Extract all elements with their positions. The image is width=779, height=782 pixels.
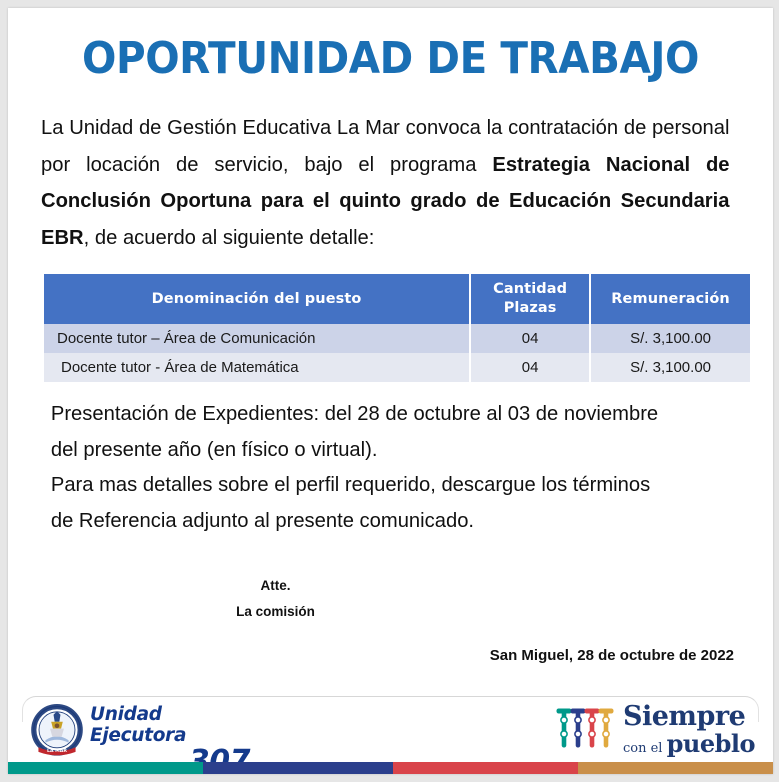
table-row: Docente tutor – Área de Comunicación 04 …: [44, 324, 750, 353]
place-date: San Miguel, 28 de octubre de 2022: [41, 647, 740, 664]
positions-table-wrapper: Denominación del puesto Cantidad Plazas …: [44, 274, 750, 382]
column-header-quantity-line1: Cantidad: [471, 280, 589, 300]
signature-signer: La comisión: [41, 599, 510, 625]
notes-block: Presentación de Expedientes: del 28 de o…: [41, 396, 730, 539]
cell-position-name: Docente tutor - Área de Matemática: [44, 353, 471, 382]
cell-quantity: 04: [471, 353, 591, 382]
slogan-text: Siempre con el pueblo: [623, 703, 755, 756]
column-header-quantity: Cantidad Plazas: [471, 274, 591, 324]
footer-content: LA MAR Unidad Ejecutora 307: [8, 696, 773, 762]
cell-quantity: 04: [471, 324, 591, 353]
svg-text:LA MAR: LA MAR: [47, 748, 67, 754]
signature-block: Atte. La comisión: [41, 573, 740, 626]
footer: LA MAR Unidad Ejecutora 307: [8, 696, 773, 774]
slogan-bold: pueblo: [667, 729, 755, 758]
notes-line-2: del presente año (en físico o virtual).: [51, 432, 730, 468]
intro-paragraph: La Unidad de Gestión Educativa La Mar co…: [41, 110, 730, 256]
footer-colorbar: [8, 762, 773, 774]
colorbar-segment-navy: [203, 762, 393, 774]
intro-text-part2: , de acuerdo al siguiente detalle:: [84, 226, 375, 249]
colorbar-segment-red: [393, 762, 578, 774]
column-header-quantity-line2: Plazas: [471, 299, 589, 319]
table-header-row: Denominación del puesto Cantidad Plazas …: [44, 274, 750, 324]
people-figures-icon: [555, 705, 617, 753]
signature-salutation: Atte.: [41, 573, 510, 599]
cell-pay: S/. 3,100.00: [591, 324, 750, 353]
entity-name-line1: Unidad Ejecutora: [90, 704, 250, 746]
ugel-seal-icon: LA MAR: [28, 702, 86, 760]
notes-line-4: de Referencia adjunto al presente comuni…: [51, 503, 730, 539]
notes-line-1: Presentación de Expedientes: del 28 de o…: [51, 396, 730, 432]
document-body: La Unidad de Gestión Educativa La Mar co…: [8, 110, 773, 664]
slogan-big: Siempre: [623, 703, 755, 730]
table-row: Docente tutor - Área de Matemática 04 S/…: [44, 353, 750, 382]
column-header-position: Denominación del puesto: [44, 274, 471, 324]
notes-line-3: Para mas detalles sobre el perfil requer…: [51, 467, 730, 503]
colorbar-segment-gold: [578, 762, 773, 774]
slogan-sub: con el pueblo: [623, 732, 755, 756]
colorbar-segment-teal: [8, 762, 203, 774]
column-header-pay: Remuneración: [591, 274, 750, 324]
positions-table: Denominación del puesto Cantidad Plazas …: [44, 274, 750, 382]
page-title: OPORTUNIDAD DE TRABAJO: [39, 36, 743, 82]
cell-position-name: Docente tutor – Área de Comunicación: [44, 324, 471, 353]
slogan-small: con el: [623, 741, 667, 756]
slogan-logo: Siempre con el pueblo: [555, 701, 755, 757]
document-page: OPORTUNIDAD DE TRABAJO La Unidad de Gest…: [8, 8, 773, 774]
table-body: Docente tutor – Área de Comunicación 04 …: [44, 324, 750, 382]
table-header: Denominación del puesto Cantidad Plazas …: [44, 274, 750, 324]
cell-pay: S/. 3,100.00: [591, 353, 750, 382]
